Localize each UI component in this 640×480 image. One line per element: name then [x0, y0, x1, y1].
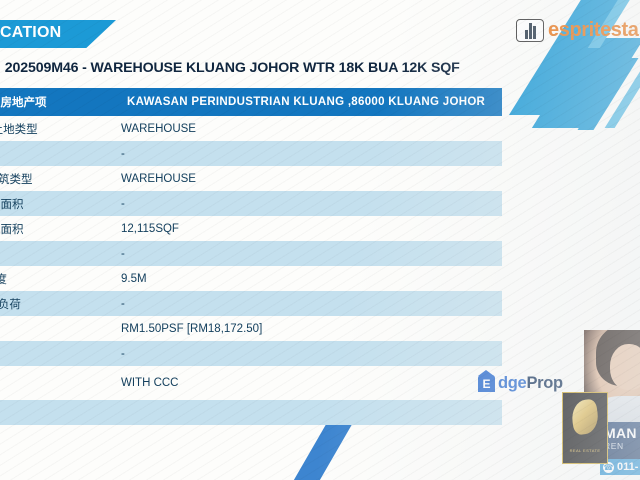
- row-value: -: [117, 148, 502, 160]
- row-label: ice 卖价: [0, 346, 117, 362]
- table-row: 有期 -: [0, 141, 502, 166]
- row-label: Area 建筑面积: [0, 221, 117, 237]
- row-label: 有期: [0, 146, 117, 162]
- row-value: -: [117, 248, 502, 260]
- building-icon: [516, 19, 544, 42]
- table-header-row: Property 房地产项 KAWASAN PERINDUSTRIAN KLUA…: [0, 88, 502, 116]
- decorative-stripe-bottom: [286, 424, 352, 480]
- row-label: 备注: [0, 375, 117, 391]
- slide-canvas: CATION PTION : 202509M46 - WAREHOUSE KLU…: [0, 0, 640, 480]
- edgeprop-watermark: E dgeProp: [478, 374, 563, 393]
- agency-badge: REAL ESTATE: [562, 392, 608, 464]
- row-label: uilding 建筑类型: [0, 171, 117, 187]
- agent-face: [610, 344, 640, 390]
- specification-table: Property 房地产项 KAWASAN PERINDUSTRIAN KLUA…: [0, 88, 502, 425]
- row-label: ding 地面负荷: [0, 296, 117, 312]
- table-row: ice 卖价 -: [0, 341, 502, 366]
- row-label: of Land 土地类型: [0, 121, 117, 137]
- house-icon: E: [478, 375, 495, 392]
- row-value: -: [117, 348, 502, 360]
- row-value: RM1.50PSF [RM18,172.50]: [117, 323, 502, 335]
- table-row-spacer: [0, 400, 502, 425]
- row-label: Area 土地面积: [0, 196, 117, 212]
- table-header-value: KAWASAN PERINDUSTRIAN KLUANG ,86000 KLUA…: [117, 96, 502, 108]
- row-value: 12,115SQF: [117, 223, 502, 235]
- agent-phone-number: 011-: [617, 461, 638, 473]
- row-value: WITH CCC: [117, 377, 502, 389]
- agency-badge-caption: REAL ESTATE: [570, 448, 601, 453]
- section-banner-label: CATION: [0, 24, 61, 42]
- section-banner: CATION: [0, 20, 116, 48]
- table-row: uilding 建筑类型 WAREHOUSE: [0, 166, 502, 191]
- table-row: ding 地面负荷 -: [0, 291, 502, 316]
- table-row: 备注 WITH CCC: [0, 366, 502, 400]
- edgeprop-label-dge: dge: [498, 374, 526, 392]
- table-row: Area 土地面积 -: [0, 191, 502, 216]
- table-header-label: Property 房地产项: [0, 94, 117, 110]
- agent-name: MAN: [604, 426, 640, 441]
- table-row: eights 高度 9.5M: [0, 266, 502, 291]
- row-value: -: [117, 298, 502, 310]
- row-label: 月租: [0, 321, 117, 337]
- table-row: Area 建筑面积 12,115SQF: [0, 216, 502, 241]
- row-value: 9.5M: [117, 273, 502, 285]
- table-row: pply 电压 -: [0, 241, 502, 266]
- wing-icon: [570, 398, 600, 435]
- row-value: WAREHOUSE: [117, 123, 502, 135]
- table-row: of Land 土地类型 WAREHOUSE: [0, 116, 502, 141]
- brand-logo: espritesta: [516, 16, 639, 44]
- row-label: pply 电压: [0, 246, 117, 262]
- table-row: 月租 RM1.50PSF [RM18,172.50]: [0, 316, 502, 341]
- listing-description: PTION : 202509M46 - WAREHOUSE KLUANG JOH…: [0, 60, 570, 76]
- agent-role: REN: [604, 441, 640, 451]
- edgeprop-label: dgeProp: [498, 374, 563, 393]
- brand-name: espritesta: [548, 19, 639, 42]
- row-value: -: [117, 198, 502, 210]
- row-label: eights 高度: [0, 271, 117, 287]
- row-value: WAREHOUSE: [117, 173, 502, 185]
